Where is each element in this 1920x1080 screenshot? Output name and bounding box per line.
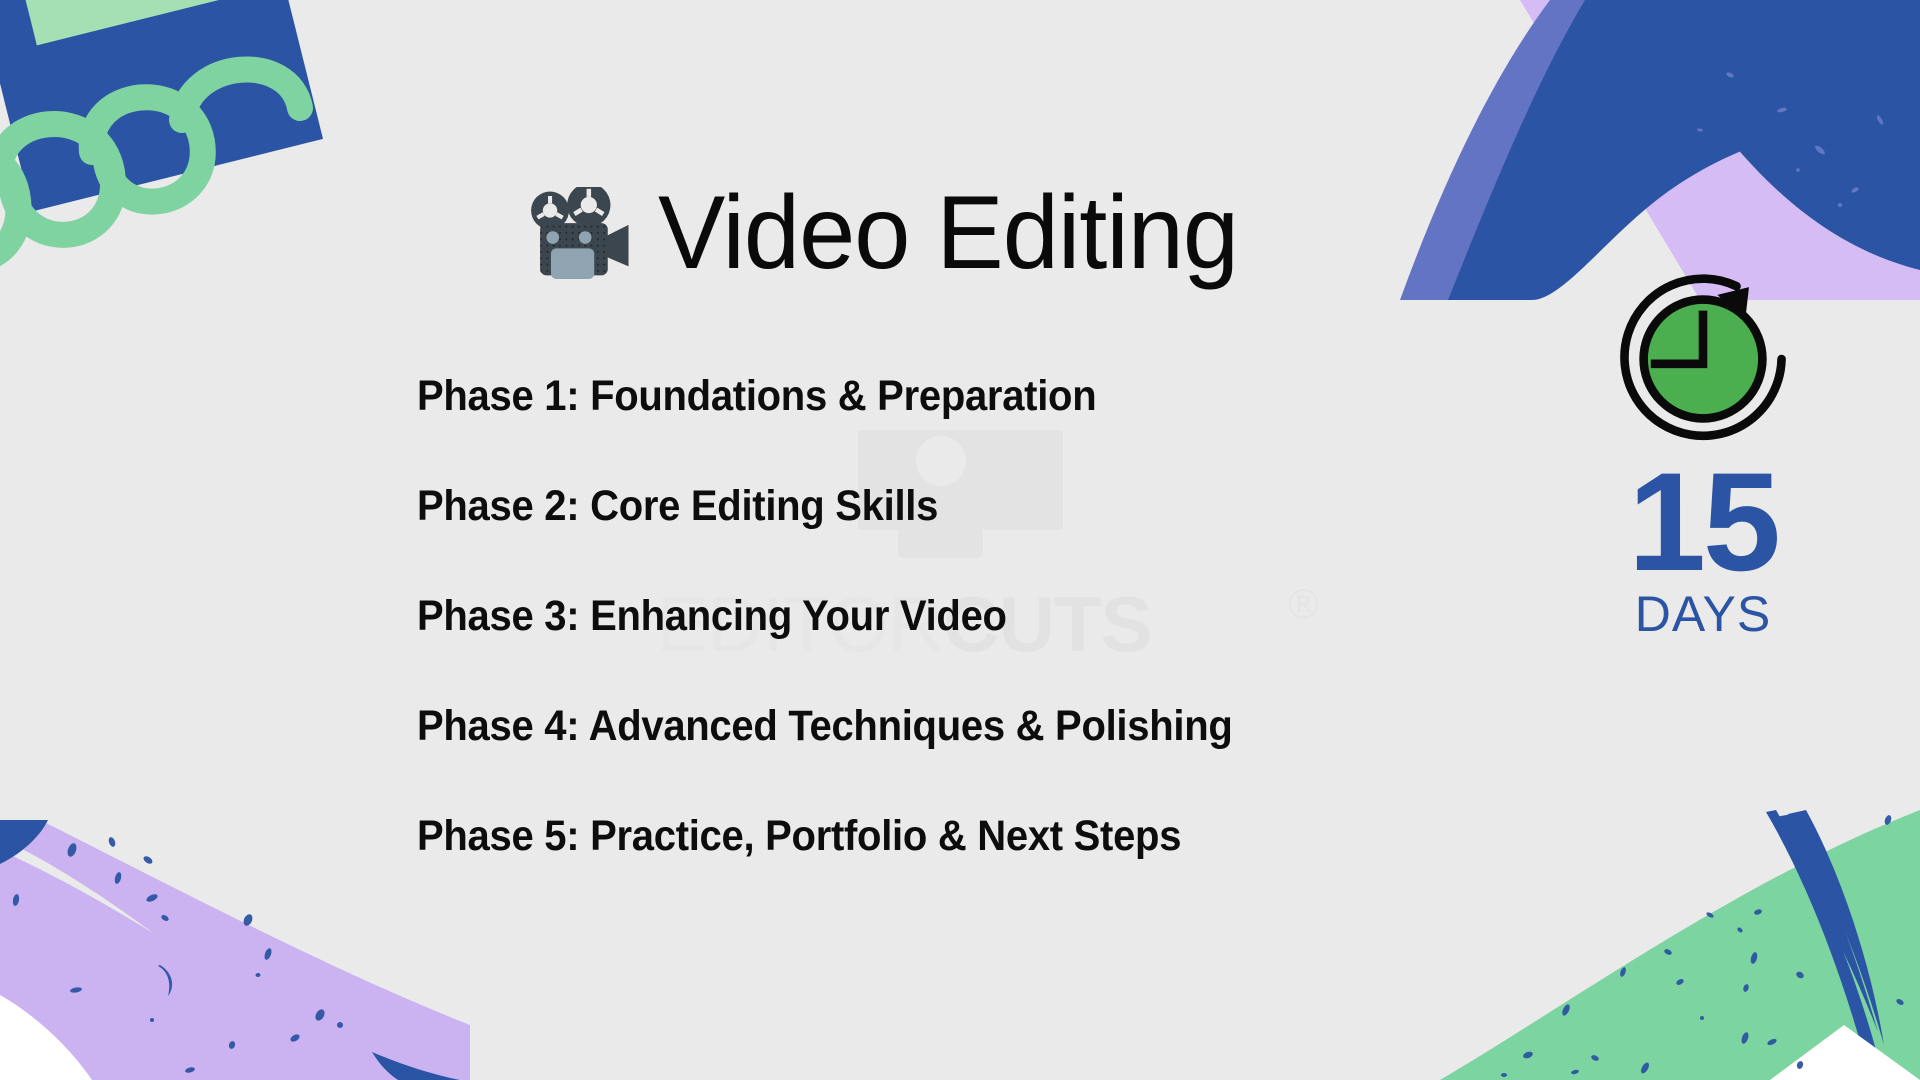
duration-number: 15 [1628, 458, 1778, 587]
decoration-top-left [0, 0, 420, 300]
decoration-top-right [1400, 0, 1920, 300]
duration-badge: 15 DAYS [1578, 268, 1828, 639]
movie-camera-icon [520, 187, 636, 279]
phase-item-3: Phase 3: Enhancing Your Video [417, 595, 1459, 638]
phase-item-5: Phase 5: Practice, Portfolio & Next Step… [417, 815, 1459, 858]
phase-list: Phase 1: Foundations & Preparation Phase… [417, 375, 1537, 858]
duration-unit-label: DAYS [1635, 589, 1771, 639]
slide-canvas: EDITORCUTS ® [0, 0, 1920, 1080]
decoration-bottom-left [0, 820, 470, 1080]
phase-item-1: Phase 1: Foundations & Preparation [417, 375, 1459, 418]
phase-item-2: Phase 2: Core Editing Skills [417, 485, 1459, 528]
phase-item-4: Phase 4: Advanced Techniques & Polishing [417, 705, 1459, 748]
clock-refresh-icon [1612, 268, 1794, 450]
slide-title: Video Editing [520, 178, 1256, 288]
title-text: Video Editing [658, 181, 1238, 285]
